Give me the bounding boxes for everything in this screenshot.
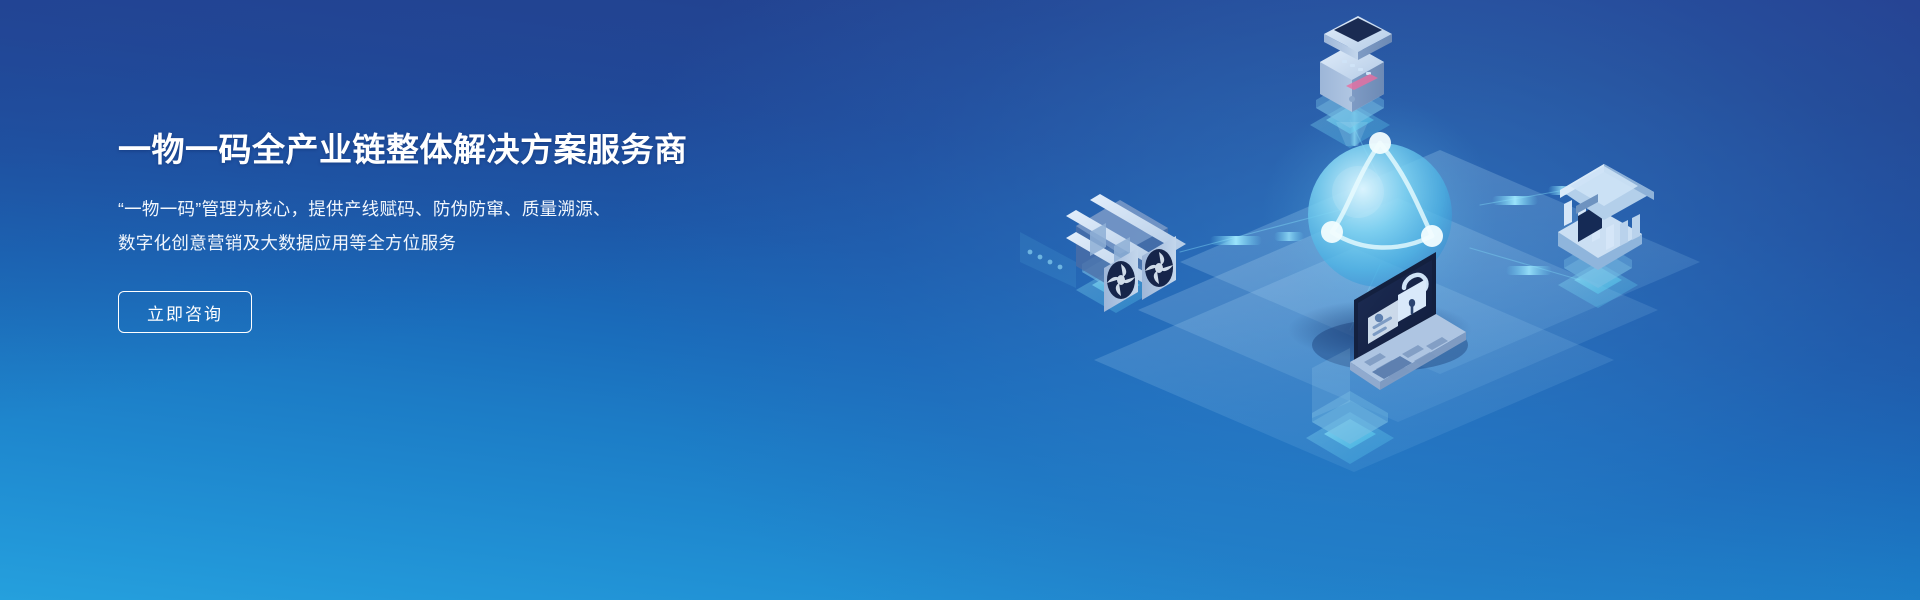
hero-banner: 一物一码全产业链整体解决方案服务商 “一物一码”管理为核心，提供产线赋码、防伪防…: [0, 0, 1920, 600]
subtitle-line-1: “一物一码”管理为核心，提供产线赋码、防伪防窜、质量溯源、: [118, 192, 838, 226]
server-rack-icon: [1020, 194, 1186, 313]
hero-illustration: [880, 0, 1740, 600]
page-title: 一物一码全产业链整体解决方案服务商: [118, 128, 838, 172]
consult-now-button[interactable]: 立即咨询: [118, 291, 252, 333]
hero-subtitle: “一物一码”管理为核心，提供产线赋码、防伪防窜、质量溯源、 数字化创意营销及大数…: [118, 192, 838, 260]
subtitle-line-2: 数字化创意营销及大数据应用等全方位服务: [118, 226, 838, 260]
hero-copy: 一物一码全产业链整体解决方案服务商 “一物一码”管理为核心，提供产线赋码、防伪防…: [118, 128, 838, 333]
scan-beam: [1020, 232, 1076, 288]
pos-terminal-icon: [1310, 16, 1392, 148]
